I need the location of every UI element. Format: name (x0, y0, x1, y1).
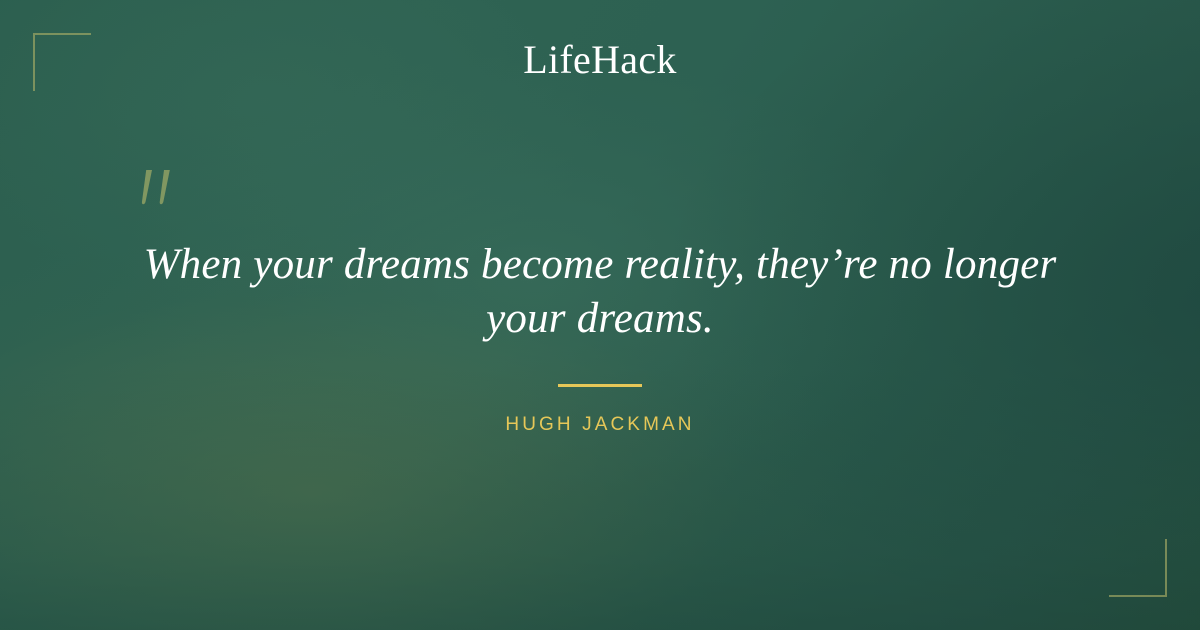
author-divider (558, 384, 642, 387)
quote-text: When your dreams become reality, they’re… (100, 238, 1100, 346)
quote-open-icon (133, 168, 179, 220)
quote-block: When your dreams become reality, they’re… (100, 238, 1100, 346)
corner-bracket-bottom-right-icon (1109, 539, 1167, 597)
quote-card: LifeHack When your dreams become reality… (0, 0, 1200, 630)
brand-logo: LifeHack (0, 40, 1200, 80)
author-name: HUGH JACKMAN (0, 414, 1200, 436)
